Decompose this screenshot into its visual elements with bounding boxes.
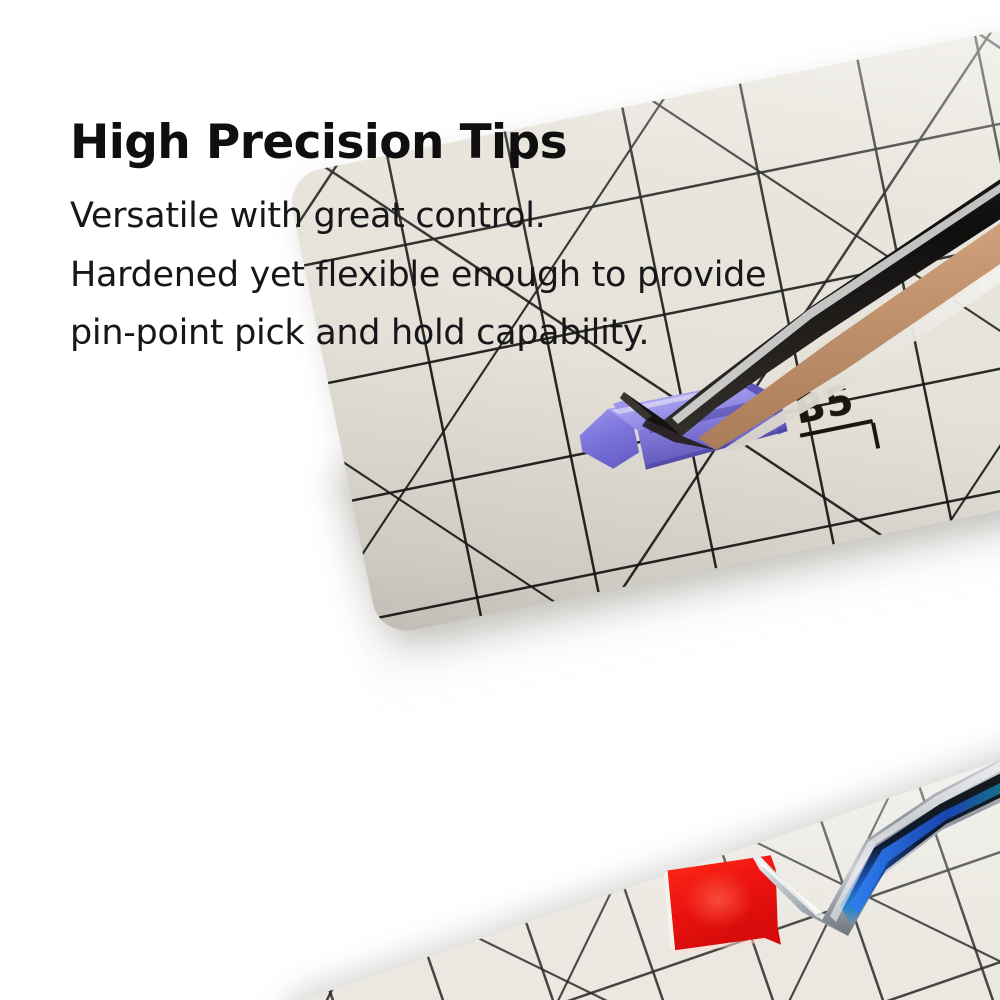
page-title: High Precision Tips (70, 118, 830, 168)
copy-block: High Precision Tips Versatile with great… (70, 118, 830, 362)
bottom-photo (268, 726, 1000, 1000)
body-line-1: Versatile with great control. (70, 188, 830, 245)
red-rect-chip (663, 851, 804, 956)
mat-diagonal-lines (268, 726, 1000, 1000)
product-feature-banner: B5 (0, 0, 1000, 1000)
cutting-mat-bottom (268, 726, 1000, 1000)
body-line-2: Hardened yet flexible enough to provide (70, 247, 830, 304)
body-line-3: pin-point pick and hold capability. (70, 305, 830, 362)
